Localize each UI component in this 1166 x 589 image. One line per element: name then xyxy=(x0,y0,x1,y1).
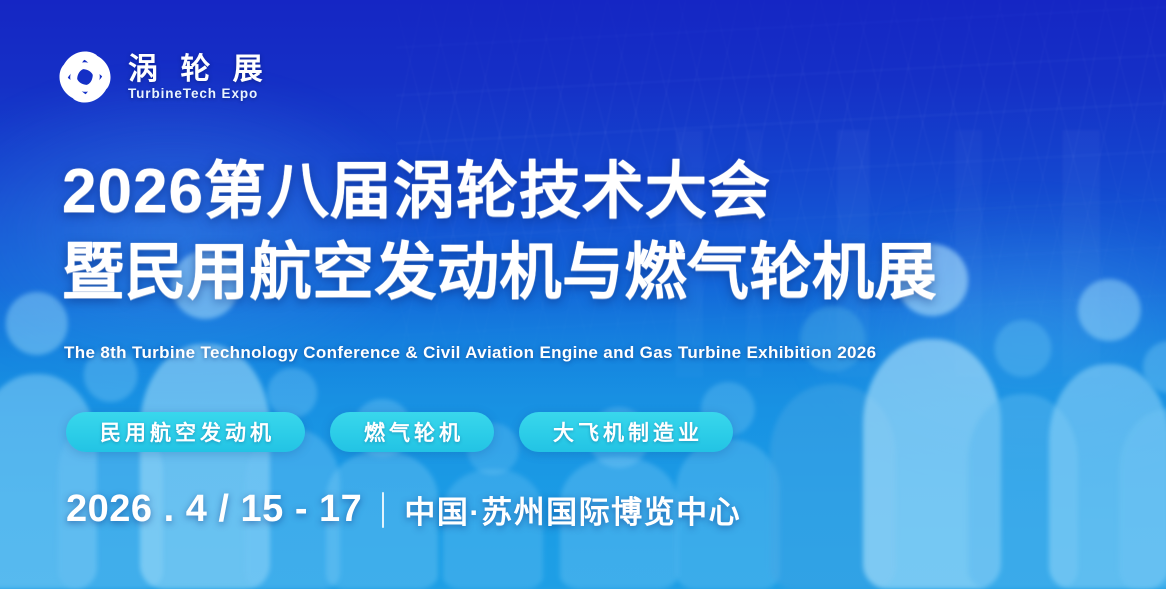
logo-english-name: TurbineTech Expo xyxy=(128,87,270,101)
event-date: 2026 . 4 / 15 - 17 xyxy=(66,488,362,531)
vertical-divider xyxy=(382,492,384,528)
logo-text-block: 涡 轮 展 TurbineTech Expo xyxy=(128,54,270,101)
topic-pill-gas-turbine[interactable]: 燃气轮机 xyxy=(330,412,494,452)
topic-pill-group: 民用航空发动机 燃气轮机 大飞机制造业 xyxy=(66,412,733,452)
event-logo: 涡 轮 展 TurbineTech Expo xyxy=(56,48,270,106)
headline-block: 2026第八届涡轮技术大会 暨民用航空发动机与燃气轮机展 xyxy=(62,152,937,313)
topic-pill-aviation-engine[interactable]: 民用航空发动机 xyxy=(66,412,305,452)
topic-pill-label: 民用航空发动机 xyxy=(96,417,275,447)
turbine-spiral-icon xyxy=(56,48,114,106)
headline-line-2: 暨民用航空发动机与燃气轮机展 xyxy=(62,233,937,314)
english-subtitle: The 8th Turbine Technology Conference & … xyxy=(64,343,876,363)
headline-line-1: 2026第八届涡轮技术大会 xyxy=(62,152,937,233)
topic-pill-large-aircraft[interactable]: 大飞机制造业 xyxy=(519,412,733,452)
logo-chinese-name: 涡 轮 展 xyxy=(128,54,270,86)
topic-pill-label: 大飞机制造业 xyxy=(549,417,703,447)
topic-pill-label: 燃气轮机 xyxy=(360,417,464,447)
event-banner: 涡 轮 展 TurbineTech Expo 2026第八届涡轮技术大会 暨民用… xyxy=(0,0,1166,589)
event-venue: 中国·苏州国际博览中心 xyxy=(404,487,741,532)
date-venue-line: 2026 . 4 / 15 - 17 中国·苏州国际博览中心 xyxy=(66,487,741,532)
